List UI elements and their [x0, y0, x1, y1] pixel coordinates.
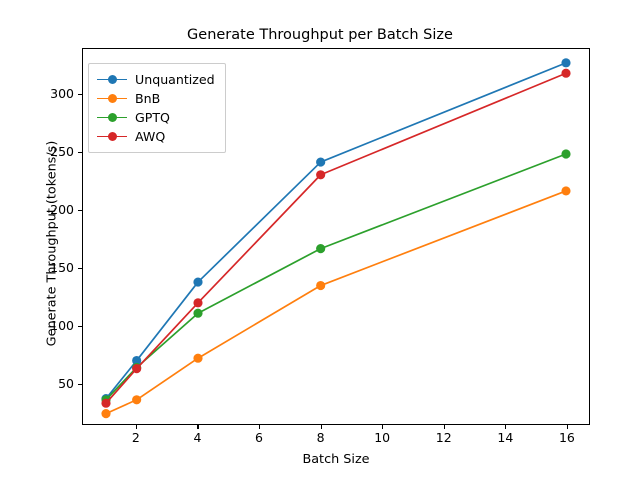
- x-tick-label: 10: [362, 430, 402, 445]
- legend-item-gptq[interactable]: GPTQ: [97, 108, 217, 127]
- legend-item-bnb[interactable]: BnB: [97, 89, 217, 108]
- chart-legend: UnquantizedBnBGPTQAWQ: [88, 63, 226, 153]
- data-point: [316, 281, 325, 290]
- y-tick-label: 300: [0, 86, 74, 101]
- legend-item-awq[interactable]: AWQ: [97, 127, 217, 146]
- x-tick-mark: [136, 425, 137, 429]
- data-point: [561, 186, 570, 195]
- data-point: [561, 58, 570, 67]
- legend-label: AWQ: [135, 129, 165, 144]
- x-tick-label: 14: [485, 430, 525, 445]
- data-point: [561, 149, 570, 158]
- legend-item-unquantized[interactable]: Unquantized: [97, 70, 217, 89]
- data-point: [316, 244, 325, 253]
- legend-label: Unquantized: [135, 72, 215, 87]
- data-point: [316, 158, 325, 167]
- x-tick-mark: [567, 425, 568, 429]
- legend-marker-icon: [97, 111, 127, 125]
- y-tick-label: 100: [0, 318, 74, 333]
- y-tick-label: 200: [0, 202, 74, 217]
- legend-marker-icon: [97, 92, 127, 106]
- y-tick-label: 50: [0, 376, 74, 391]
- chart-figure: Generate Throughput per Batch Size Gener…: [0, 0, 640, 480]
- data-point: [193, 278, 202, 287]
- series-gptq: [101, 149, 570, 404]
- legend-marker-icon: [97, 73, 127, 87]
- x-tick-mark: [197, 425, 198, 429]
- legend-label: BnB: [135, 91, 160, 106]
- data-point: [316, 170, 325, 179]
- legend-label: GPTQ: [135, 110, 170, 125]
- x-tick-mark: [505, 425, 506, 429]
- x-tick-label: 16: [547, 430, 587, 445]
- series-line: [106, 154, 566, 400]
- x-tick-mark: [321, 425, 322, 429]
- series-bnb: [101, 186, 570, 418]
- data-point: [101, 399, 110, 408]
- y-tick-label: 150: [0, 260, 74, 275]
- y-tick-label: 250: [0, 144, 74, 159]
- legend-marker-icon: [97, 130, 127, 144]
- x-tick-label: 8: [301, 430, 341, 445]
- data-point: [101, 409, 110, 418]
- series-line: [106, 191, 566, 414]
- data-point: [193, 354, 202, 363]
- x-tick-mark: [444, 425, 445, 429]
- y-axis-label: Generate Throughput (tokens/s): [45, 74, 60, 414]
- chart-title: Generate Throughput per Batch Size: [0, 27, 640, 43]
- x-tick-mark: [382, 425, 383, 429]
- data-point: [193, 298, 202, 307]
- data-point: [193, 309, 202, 318]
- x-tick-label: 12: [424, 430, 464, 445]
- x-tick-mark: [259, 425, 260, 429]
- x-tick-label: 6: [239, 430, 279, 445]
- x-tick-label: 4: [177, 430, 217, 445]
- data-point: [132, 395, 141, 404]
- data-point: [561, 69, 570, 78]
- data-point: [132, 364, 141, 373]
- x-tick-label: 2: [116, 430, 156, 445]
- x-axis-label: Batch Size: [82, 452, 590, 467]
